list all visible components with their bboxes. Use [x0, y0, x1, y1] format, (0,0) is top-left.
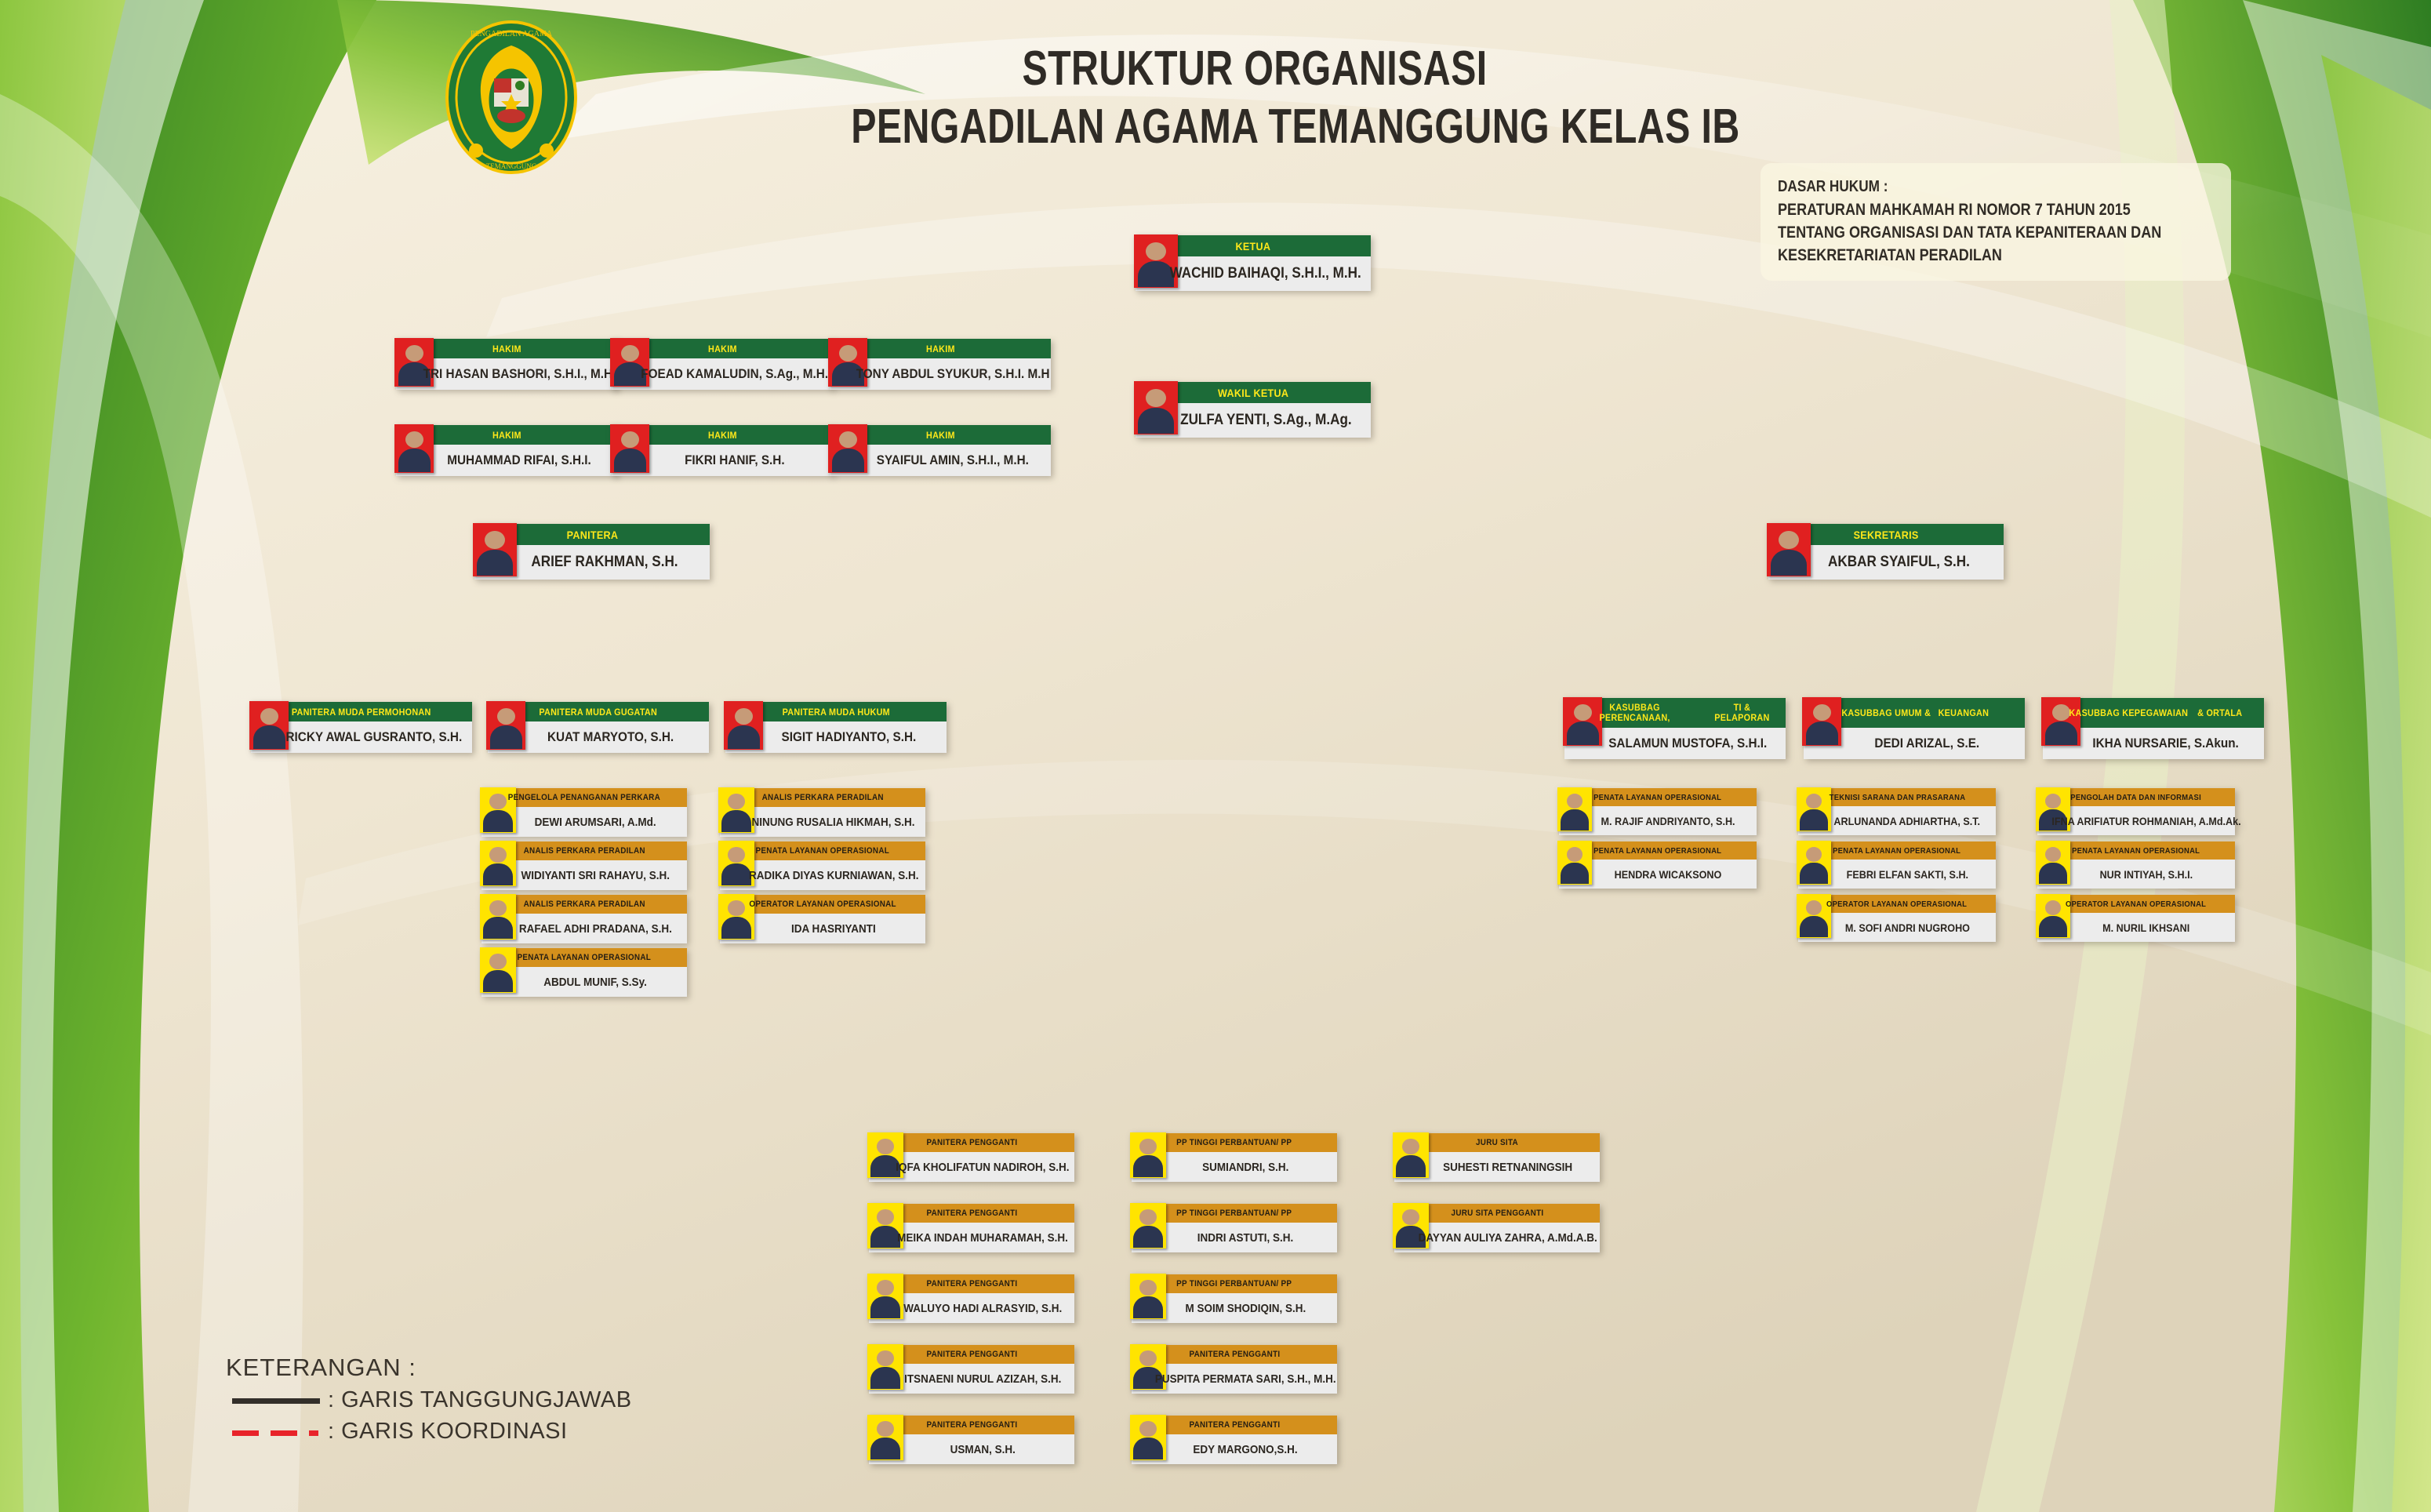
card-panitera-pengganti-4[interactable]: PANITERA PENGGANTIITSNAENI NURUL AZIZAH,…: [869, 1345, 1074, 1394]
person-photo: [1130, 1132, 1166, 1178]
card-gugatan-staff-4[interactable]: PENATA LAYANAN OPERASIONALABDUL MUNIF, S…: [481, 948, 687, 997]
card-panitera-muda-1[interactable]: PANITERA MUDA PERMOHONANRICKY AWAL GUSRA…: [251, 702, 472, 753]
person-photo: [486, 701, 525, 750]
card-gugatan-staff-3[interactable]: ANALIS PERKARA PERADILANRAFAEL ADHI PRAD…: [481, 895, 687, 943]
person-photo: [1797, 841, 1831, 885]
card-kasubbag-1[interactable]: KASUBBAG PERENCANAAN,TI & PELAPORANSALAM…: [1564, 698, 1786, 759]
card-perencanaan-staff-1[interactable]: PENATA LAYANAN OPERASIONALM. RAJIF ANDRI…: [1559, 788, 1757, 835]
card-panitera-pengganti-3[interactable]: PANITERA PENGGANTIWALUYO HADI ALRASYID, …: [869, 1274, 1074, 1323]
card-panitera-muda-3[interactable]: PANITERA MUDA HUKUMSIGIT HADIYANTO, S.H.: [725, 702, 947, 753]
card-gugatan-staff-1[interactable]: PENGELOLA PENANGANAN PERKARADEWI ARUMSAR…: [481, 788, 687, 837]
person-photo: [1130, 1203, 1166, 1248]
card-umum-staff-1[interactable]: TEKNISI SARANA DAN PRASARANAARLUNANDA AD…: [1798, 788, 1996, 835]
card-sekretaris[interactable]: SEKRETARISAKBAR SYAIFUL, S.H.: [1768, 524, 2004, 580]
person-photo: [1767, 523, 1811, 576]
legend-dashed-label: : GARIS KOORDINASI: [328, 1419, 568, 1445]
person-photo: [1130, 1415, 1166, 1460]
card-hakim-5[interactable]: HAKIMFIKRI HANIF, S.H.: [612, 425, 833, 476]
card-hakim-1[interactable]: HAKIMTRI HASAN BASHORI, S.H.I., M.H.: [396, 339, 617, 390]
person-photo: [1797, 787, 1831, 831]
card-kepegawaian-staff-2[interactable]: PENATA LAYANAN OPERASIONALNUR INTIYAH, S…: [2037, 841, 2235, 889]
person-photo: [610, 424, 649, 473]
card-pp-tinggi-2[interactable]: PP TINGGI PERBANTUAN/ PPINDRI ASTUTI, S.…: [1132, 1204, 1337, 1252]
svg-text:TEMANGGUNG: TEMANGGUNG: [486, 162, 537, 170]
card-gugatan-staff-2[interactable]: ANALIS PERKARA PERADILANWIDIYANTI SRI RA…: [481, 841, 687, 890]
person-photo: [480, 841, 516, 886]
person-photo: [394, 424, 434, 473]
legal-basis-line-1: PERATURAN MAHKAMAH RI NOMOR 7 TAHUN 2015: [1778, 198, 2154, 221]
person-photo: [249, 701, 289, 750]
svg-text:PENGADILAN AGAMA: PENGADILAN AGAMA: [471, 30, 553, 38]
legal-basis-line-3: KESEKRETARIATAN PERADILAN: [1778, 244, 2154, 267]
card-hakim-3[interactable]: HAKIMTONY ABDUL SYUKUR, S.H.I. M.H: [830, 339, 1051, 390]
person-photo: [1557, 841, 1592, 885]
card-panitera-pengganti-1[interactable]: PANITERA PENGGANTIIQFA KHOLIFATUN NADIRO…: [869, 1133, 1074, 1182]
legend-row-solid: : GARIS TANGGUNGJAWAB: [226, 1387, 632, 1413]
legal-basis-line-0: DASAR HUKUM :: [1778, 176, 2154, 198]
legend: KETERANGAN : : GARIS TANGGUNGJAWAB : GAR…: [226, 1354, 632, 1445]
card-hakim-4[interactable]: HAKIMMUHAMMAD RIFAI, S.H.I.: [396, 425, 617, 476]
person-photo: [867, 1344, 903, 1390]
card-juru-sita-1[interactable]: JURU SITASUHESTI RETNANINGSIH: [1394, 1133, 1600, 1182]
card-pp-tinggi-5[interactable]: PANITERA PENGGANTIEDY MARGONO,S.H.: [1132, 1416, 1337, 1464]
card-hakim-6[interactable]: HAKIMSYAIFUL AMIN, S.H.I., M.H.: [830, 425, 1051, 476]
court-logo: PENGADILAN AGAMA TEMANGGUNG: [445, 19, 578, 176]
card-kepegawaian-staff-3[interactable]: OPERATOR LAYANAN OPERASIONALM. NURIL IKH…: [2037, 895, 2235, 942]
person-photo: [480, 894, 516, 940]
card-pp-tinggi-4[interactable]: PANITERA PENGGANTIPUSPITA PERMATA SARI, …: [1132, 1345, 1337, 1394]
legal-basis-line-2: TENTANG ORGANISASI DAN TATA KEPANITERAAN…: [1778, 221, 2154, 244]
person-photo: [828, 424, 867, 473]
person-photo: [867, 1274, 903, 1319]
page-title: STRUKTUR ORGANISASI PENGADILAN AGAMA TEM…: [737, 41, 1772, 157]
legend-dashed-line-icon: [226, 1424, 320, 1440]
card-wakil-ketua[interactable]: WAKIL KETUAZULFA YENTI, S.Ag., M.Ag.: [1136, 382, 1371, 438]
person-photo: [1130, 1274, 1166, 1319]
person-photo: [867, 1415, 903, 1460]
title-line-2: PENGADILAN AGAMA TEMANGGUNG KELAS IB: [851, 97, 1659, 157]
card-panitera-pengganti-2[interactable]: PANITERA PENGGANTIMEIKA INDAH MUHARAMAH,…: [869, 1204, 1074, 1252]
legend-solid-line-icon: [226, 1393, 320, 1408]
person-photo: [724, 701, 763, 750]
person-photo: [718, 787, 754, 833]
card-ketua[interactable]: KETUAWACHID BAIHAQI, S.H.I., M.H.: [1136, 235, 1371, 291]
card-kasubbag-3[interactable]: KASUBBAG KEPEGAWAIAN& ORTALAIKHA NURSARI…: [2043, 698, 2264, 759]
person-photo: [1393, 1132, 1429, 1178]
person-photo: [1557, 787, 1592, 831]
card-umum-staff-2[interactable]: PENATA LAYANAN OPERASIONALFEBRI ELFAN SA…: [1798, 841, 1996, 889]
card-juru-sita-2[interactable]: JURU SITA PENGGANTIDAYYAN AULIYA ZAHRA, …: [1394, 1204, 1600, 1252]
card-panitera-muda-2[interactable]: PANITERA MUDA GUGATANKUAT MARYOTO, S.H.: [488, 702, 709, 753]
card-perencanaan-staff-2[interactable]: PENATA LAYANAN OPERASIONALHENDRA WICAKSO…: [1559, 841, 1757, 889]
card-hukum-staff-3[interactable]: OPERATOR LAYANAN OPERASIONALIDA HASRIYAN…: [720, 895, 925, 943]
person-photo: [480, 947, 516, 993]
legend-title: KETERANGAN :: [226, 1354, 632, 1382]
legend-solid-label: : GARIS TANGGUNGJAWAB: [328, 1387, 632, 1413]
card-kepegawaian-staff-1[interactable]: PENGOLAH DATA DAN INFORMASIIFNA ARIFIATU…: [2037, 788, 2235, 835]
person-photo: [2036, 841, 2070, 885]
person-photo: [473, 523, 517, 576]
person-photo: [2041, 697, 2080, 746]
card-panitera-pengganti-5[interactable]: PANITERA PENGGANTIUSMAN, S.H.: [869, 1416, 1074, 1464]
card-hukum-staff-1[interactable]: ANALIS PERKARA PERADILANNINUNG RUSALIA H…: [720, 788, 925, 837]
card-umum-staff-3[interactable]: OPERATOR LAYANAN OPERASIONALM. SOFI ANDR…: [1798, 895, 1996, 942]
card-panitera[interactable]: PANITERAARIEF RAKHMAN, S.H.: [474, 524, 710, 580]
person-photo: [1802, 697, 1841, 746]
card-pp-tinggi-3[interactable]: PP TINGGI PERBANTUAN/ PPM SOIM SHODIQIN,…: [1132, 1274, 1337, 1323]
card-hakim-2[interactable]: HAKIMFOEAD KAMALUDIN, S.Ag., M.H.: [612, 339, 833, 390]
legal-basis-box: DASAR HUKUM : PERATURAN MAHKAMAH RI NOMO…: [1761, 163, 2231, 281]
title-line-1: STRUKTUR ORGANISASI: [851, 41, 1659, 97]
legend-row-dashed: : GARIS KOORDINASI: [226, 1419, 632, 1445]
card-hukum-staff-2[interactable]: PENATA LAYANAN OPERASIONALRADIKA DIYAS K…: [720, 841, 925, 890]
card-kasubbag-2[interactable]: KASUBBAG UMUM &KEUANGANDEDI ARIZAL, S.E.: [1804, 698, 2025, 759]
card-pp-tinggi-1[interactable]: PP TINGGI PERBANTUAN/ PPSUMIANDRI, S.H.: [1132, 1133, 1337, 1182]
person-photo: [1134, 381, 1178, 434]
